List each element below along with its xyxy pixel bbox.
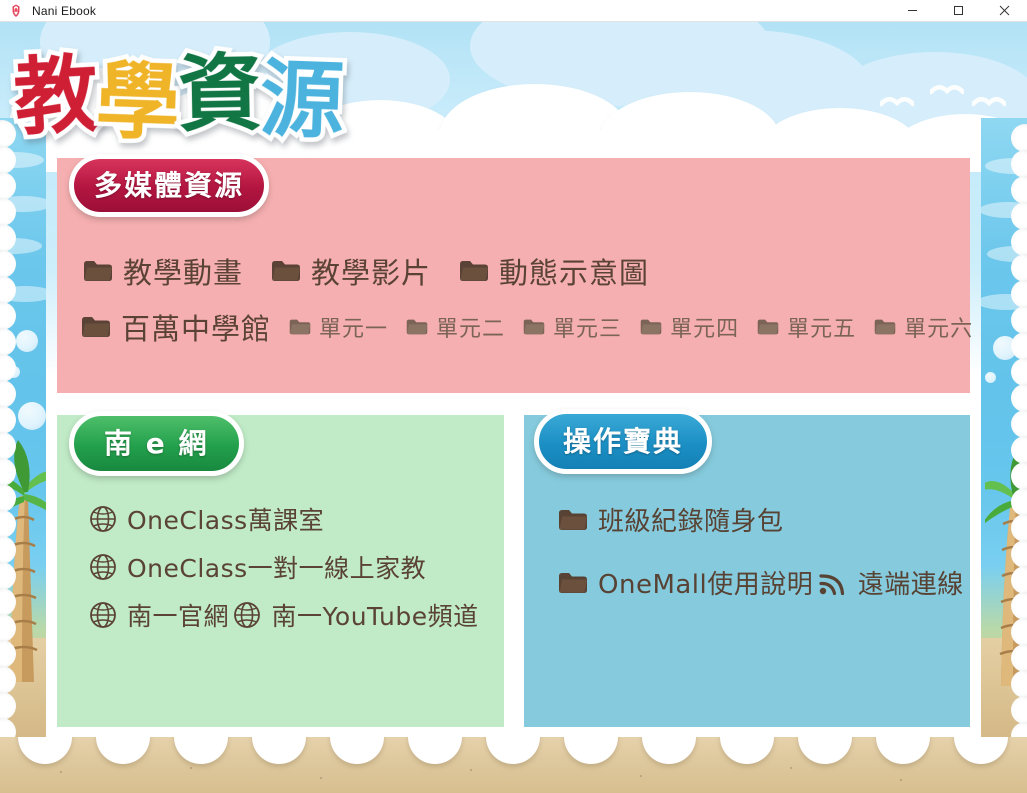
multimedia-row-primary: 教學動畫 教學影片 動態示意圖 — [83, 250, 649, 292]
close-icon — [999, 5, 1010, 16]
page-title: 教 學 資 源 — [14, 54, 342, 138]
item-teaching-animation[interactable]: 教學動畫 — [83, 250, 243, 292]
folder-icon — [459, 259, 489, 283]
item-remote-connection[interactable]: 遠端連線 — [818, 564, 964, 601]
item-label: 單元六 — [904, 311, 973, 343]
item-label: 動態示意圖 — [499, 250, 649, 292]
panel-operation-manual: 操作寶典 班級紀錄隨身包 OneMall使用說明 遠端連線 — [524, 415, 970, 727]
item-unit-1[interactable]: 單元一 — [289, 311, 388, 343]
item-class-record-kit[interactable]: 班級紀錄隨身包 — [558, 501, 784, 538]
item-onemall-instructions[interactable]: OneMall使用說明 — [558, 564, 813, 601]
minimize-button[interactable] — [889, 0, 935, 22]
window-controls — [889, 0, 1027, 22]
item-label: OneClass一對一線上家教 — [127, 549, 426, 585]
folder-icon — [83, 259, 113, 283]
folder-icon — [874, 318, 896, 336]
title-char-4: 源 — [259, 57, 344, 144]
app-canvas: 教 學 資 源 多媒體資源 教學動畫 教學影片 — [0, 22, 1027, 793]
app-icon — [8, 3, 24, 19]
folder-icon — [640, 318, 662, 336]
item-label: 南一官網 — [127, 597, 229, 633]
folder-icon — [523, 318, 545, 336]
item-label: OneClass萬課室 — [127, 501, 324, 537]
globe-icon — [233, 601, 261, 629]
globe-icon — [89, 601, 117, 629]
folder-icon — [757, 318, 779, 336]
window-titlebar: Nani Ebook — [0, 0, 1027, 22]
nan-e-net-list: OneClass萬課室 OneClass一對一線上家教 南一官網 南一YouTu… — [89, 501, 504, 645]
item-label: 單元二 — [436, 311, 505, 343]
globe-icon — [89, 553, 117, 581]
folder-icon — [289, 318, 311, 336]
item-label: 班級紀錄隨身包 — [598, 501, 784, 538]
window-title: Nani Ebook — [32, 4, 889, 18]
signal-icon — [818, 570, 848, 596]
item-teaching-video[interactable]: 教學影片 — [271, 250, 431, 292]
folder-icon — [81, 315, 111, 339]
item-unit-6[interactable]: 單元六 — [874, 311, 973, 343]
minimize-icon — [907, 5, 918, 16]
item-label: 遠端連線 — [858, 564, 964, 601]
item-label: 單元五 — [787, 311, 856, 343]
panel-nan-e-net: 南 e 網 OneClass萬課室 OneClass一對一線上家教 南一官網 — [57, 415, 504, 727]
item-unit-4[interactable]: 單元四 — [640, 311, 739, 343]
folder-icon — [558, 570, 588, 596]
bird-icon — [972, 94, 1006, 108]
panel-multimedia-resources: 多媒體資源 教學動畫 教學影片 動態示意圖 — [57, 158, 970, 393]
title-char-3: 資 — [177, 51, 260, 136]
close-button[interactable] — [981, 0, 1027, 22]
folder-icon — [406, 318, 428, 336]
item-label: 百萬中學館 — [121, 306, 271, 348]
folder-icon — [271, 259, 301, 283]
folder-icon — [558, 507, 588, 533]
operation-manual-list: 班級紀錄隨身包 OneMall使用說明 遠端連線 — [558, 501, 970, 627]
multimedia-row-units: 百萬中學館 單元一 單元二 單元三 — [81, 306, 973, 348]
item-million-academy[interactable]: 百萬中學館 — [81, 306, 271, 348]
item-label: 教學影片 — [311, 250, 431, 292]
item-label: 教學動畫 — [123, 250, 243, 292]
maximize-button[interactable] — [935, 0, 981, 22]
sea-decoration-left — [0, 118, 46, 758]
item-nani-youtube-channel[interactable]: 南一YouTube頻道 — [233, 597, 478, 633]
item-label: OneMall使用說明 — [598, 564, 813, 601]
bird-icon — [930, 82, 964, 96]
globe-icon — [89, 505, 117, 533]
item-label: 單元一 — [319, 311, 388, 343]
bird-icon — [880, 94, 914, 108]
sea-decoration-right — [981, 118, 1027, 758]
item-label: 單元三 — [553, 311, 622, 343]
panel-operation-manual-badge: 操作寶典 — [534, 409, 712, 474]
item-unit-5[interactable]: 單元五 — [757, 311, 856, 343]
item-oneclass-classroom[interactable]: OneClass萬課室 — [89, 501, 324, 537]
maximize-icon — [953, 5, 964, 16]
title-char-2: 學 — [95, 59, 180, 146]
item-label: 南一YouTube頻道 — [271, 597, 478, 633]
panel-nan-e-net-badge: 南 e 網 — [69, 411, 244, 476]
panel-multimedia-badge: 多媒體資源 — [69, 154, 269, 217]
item-label: 單元四 — [670, 311, 739, 343]
sand-decoration-bottom — [0, 737, 1027, 793]
item-dynamic-diagram[interactable]: 動態示意圖 — [459, 250, 649, 292]
title-char-1: 教 — [12, 52, 98, 140]
item-oneclass-tutoring[interactable]: OneClass一對一線上家教 — [89, 549, 426, 585]
item-unit-3[interactable]: 單元三 — [523, 311, 622, 343]
item-unit-2[interactable]: 單元二 — [406, 311, 505, 343]
item-nani-official-site[interactable]: 南一官網 — [89, 597, 229, 633]
